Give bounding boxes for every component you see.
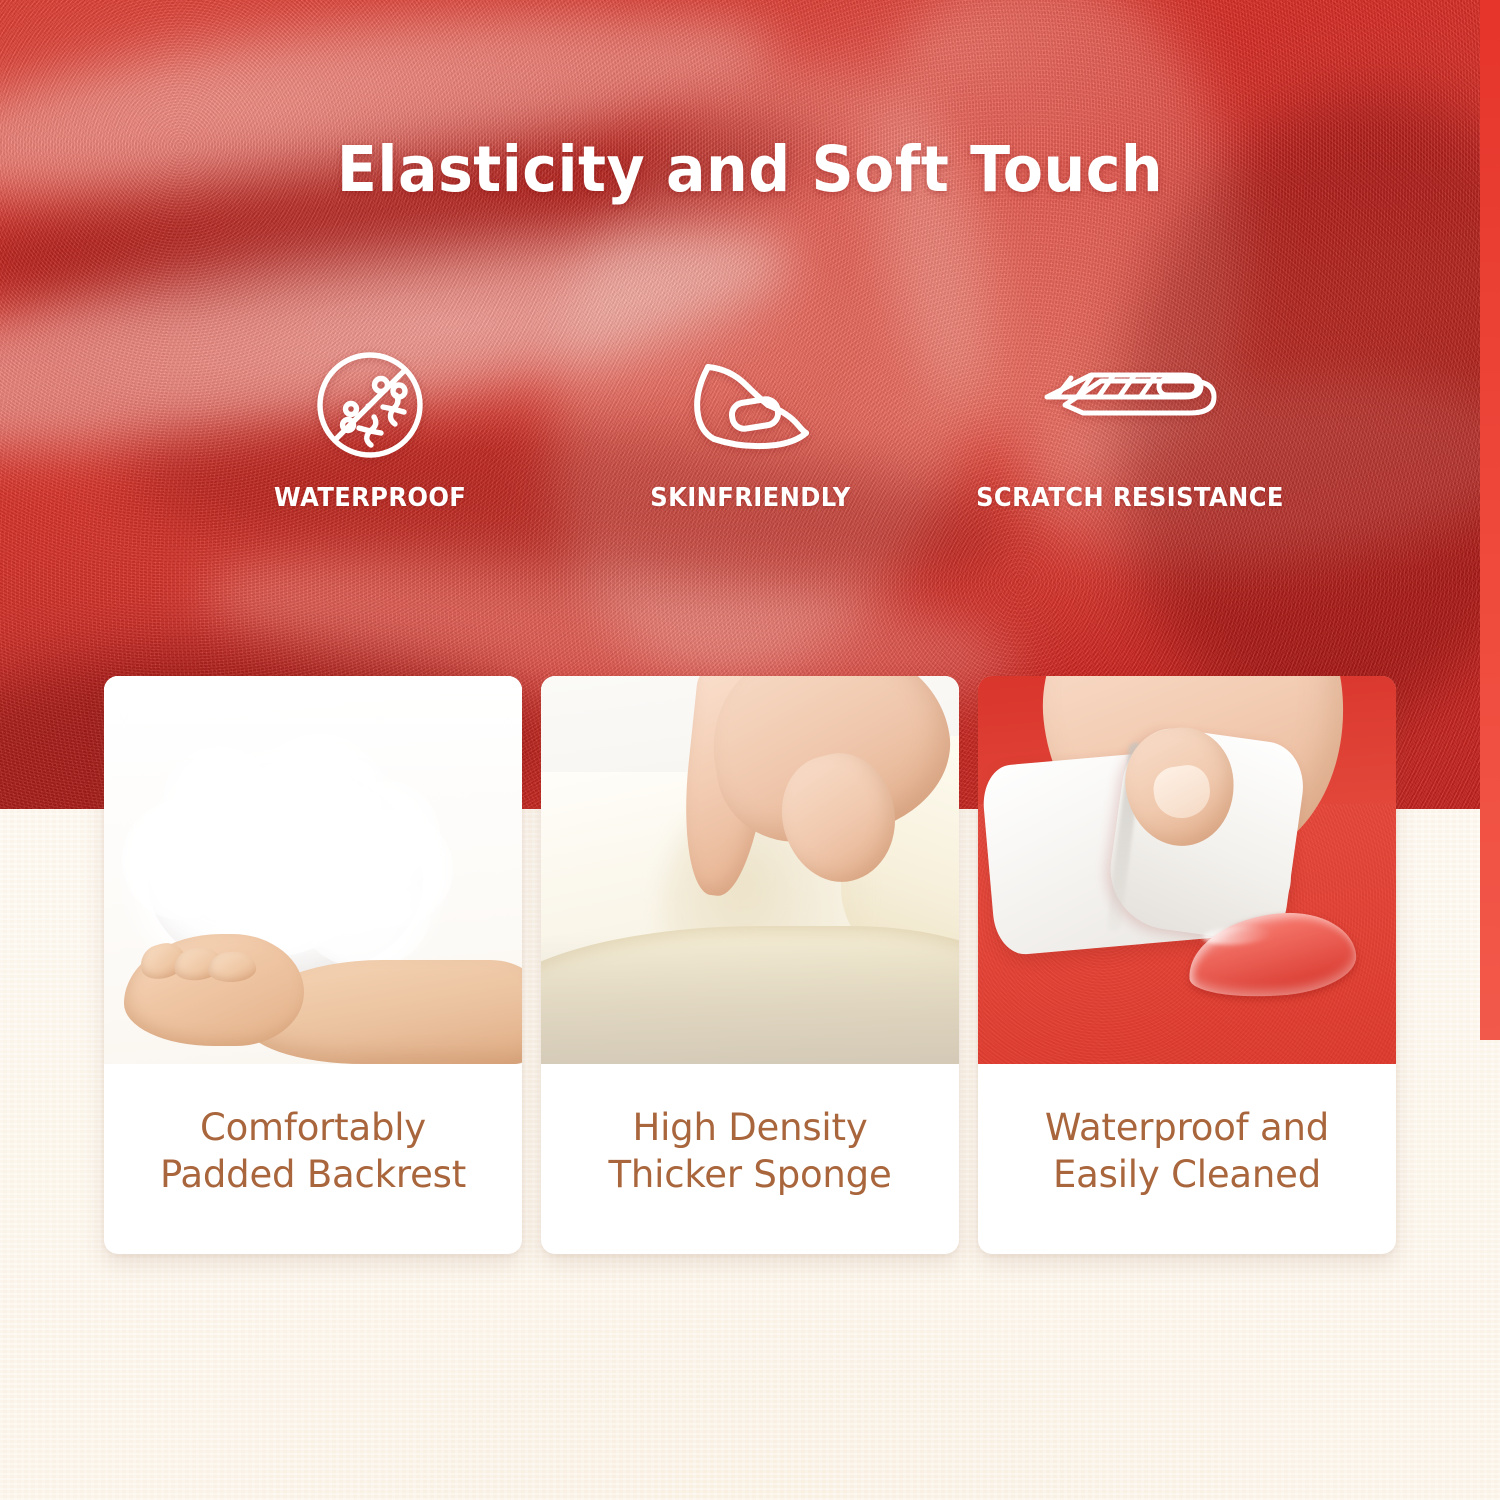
no-bacteria-icon xyxy=(311,345,429,465)
card-caption: High Density Thicker Sponge xyxy=(541,1064,959,1254)
utility-knife-icon xyxy=(1035,345,1225,465)
open-hand-icon xyxy=(675,345,825,465)
feature-label: SCRATCH RESISTANCE xyxy=(976,483,1284,513)
feature-waterproof: WATERPROOF xyxy=(180,345,560,513)
page-title: Elasticity and Soft Touch xyxy=(53,133,1448,206)
feature-card-thicker-sponge[interactable]: High Density Thicker Sponge xyxy=(541,676,959,1254)
card-caption-line2: Padded Backrest xyxy=(160,1151,466,1198)
right-edge-red-strip xyxy=(1480,0,1500,1040)
card-caption: Comfortably Padded Backrest xyxy=(104,1064,522,1254)
feature-scratch-resistance: SCRATCH RESISTANCE xyxy=(940,345,1320,513)
cloth-wiping-red-leather-photo xyxy=(978,676,1396,1064)
card-caption-line1: High Density xyxy=(632,1104,867,1151)
feature-label: WATERPROOF xyxy=(274,483,466,513)
hand-pressing-foam-sponge-photo xyxy=(541,676,959,1064)
card-caption: Waterproof and Easily Cleaned xyxy=(978,1064,1396,1254)
feature-icon-row: WATERPROOF SKINFRIENDLY xyxy=(0,345,1500,513)
card-caption-line2: Easily Cleaned xyxy=(1053,1151,1321,1198)
feature-card-padded-backrest[interactable]: Comfortably Padded Backrest xyxy=(104,676,522,1254)
card-caption-line1: Comfortably xyxy=(200,1104,426,1151)
hand-holding-fiber-fill-photo xyxy=(104,676,522,1064)
feature-card-row: Comfortably Padded Backrest High Density… xyxy=(104,676,1396,1254)
card-caption-line2: Thicker Sponge xyxy=(608,1151,891,1198)
card-caption-line1: Waterproof and xyxy=(1045,1104,1329,1151)
feature-card-waterproof-clean[interactable]: Waterproof and Easily Cleaned xyxy=(978,676,1396,1254)
feature-label: SKINFRIENDLY xyxy=(650,483,850,513)
product-feature-poster: Elasticity and Soft Touch WATERPROOF xyxy=(0,0,1500,1500)
feature-skinfriendly: SKINFRIENDLY xyxy=(560,345,940,513)
